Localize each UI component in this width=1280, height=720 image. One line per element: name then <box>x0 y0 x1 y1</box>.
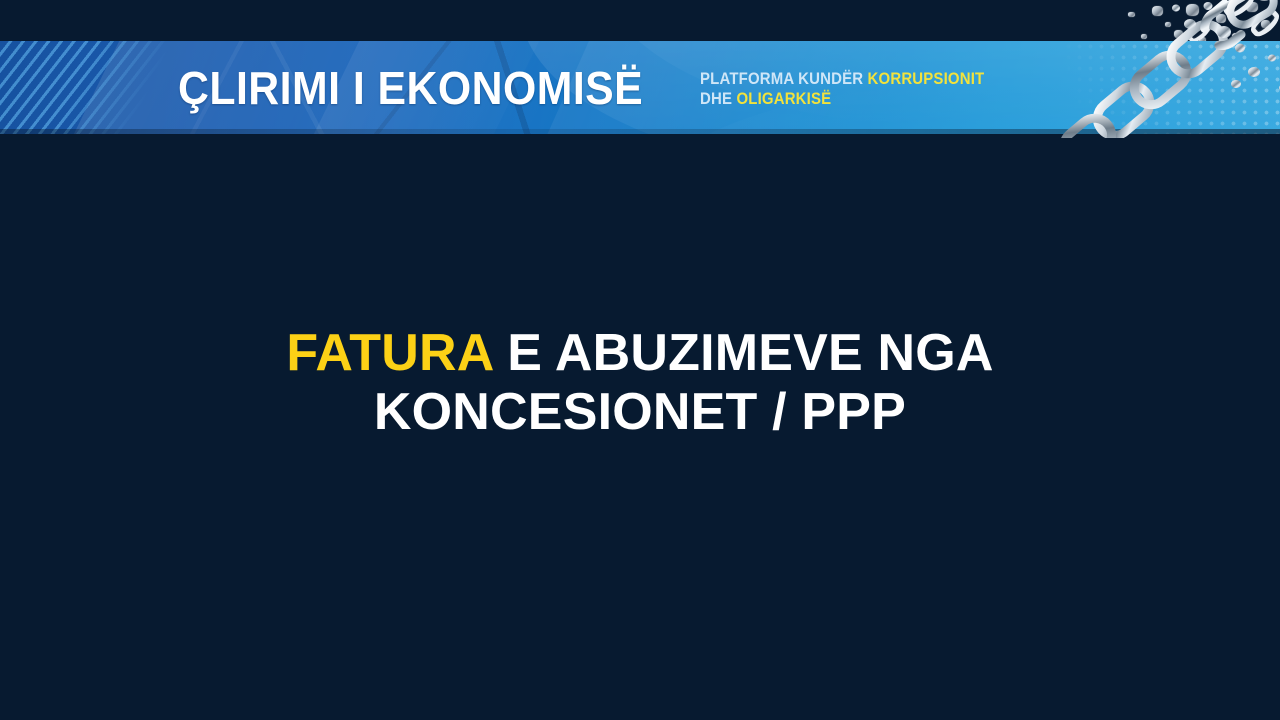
chain-fragment <box>1141 34 1147 39</box>
tagline-line-2-highlight: OLIGARKISË <box>737 89 832 108</box>
chain-fragment <box>1186 4 1199 16</box>
chain-fragment <box>1152 6 1163 16</box>
slide-body: FATURA E ABUZIMEVE NGA KONCESIONET / PPP <box>0 134 1280 720</box>
brand-tagline: PLATFORMA KUNDËR KORRUPSIONIT DHE OLIGAR… <box>700 69 1023 107</box>
chain-fragment <box>1216 14 1226 23</box>
tagline-line-2: DHE OLIGARKISË <box>700 89 984 108</box>
tagline-line-1-highlight: KORRUPSIONIT <box>868 69 985 88</box>
chain-fragment <box>1128 12 1135 17</box>
chain-fragment <box>1232 33 1240 40</box>
tagline-line-2-plain: DHE <box>700 89 736 108</box>
brand-title: ÇLIRIMI I EKONOMISË <box>178 65 643 111</box>
tagline-line-1-plain: PLATFORMA KUNDËR <box>700 69 868 88</box>
top-dark-strip <box>0 0 1280 41</box>
chain-link-icon <box>1184 17 1214 41</box>
chain-fragment <box>1174 30 1183 38</box>
chain-fragment <box>1165 22 1171 27</box>
tagline-line-1: PLATFORMA KUNDËR KORRUPSIONIT <box>700 69 984 88</box>
campaign-banner: ÇLIRIMI I EKONOMISË PLATFORMA KUNDËR KOR… <box>0 41 1280 134</box>
page-title-accent: FATURA <box>286 324 492 382</box>
banner-text-group: ÇLIRIMI I EKONOMISË PLATFORMA KUNDËR KOR… <box>0 41 1280 134</box>
page-title-line-2: KONCESIONET / PPP <box>374 383 906 441</box>
presentation-slide: ÇLIRIMI I EKONOMISË PLATFORMA KUNDËR KOR… <box>0 0 1280 720</box>
page-title-rest: E ABUZIMEVE NGA <box>493 324 994 382</box>
page-title: FATURA E ABUZIMEVE NGA KONCESIONET / PPP <box>0 324 1280 443</box>
